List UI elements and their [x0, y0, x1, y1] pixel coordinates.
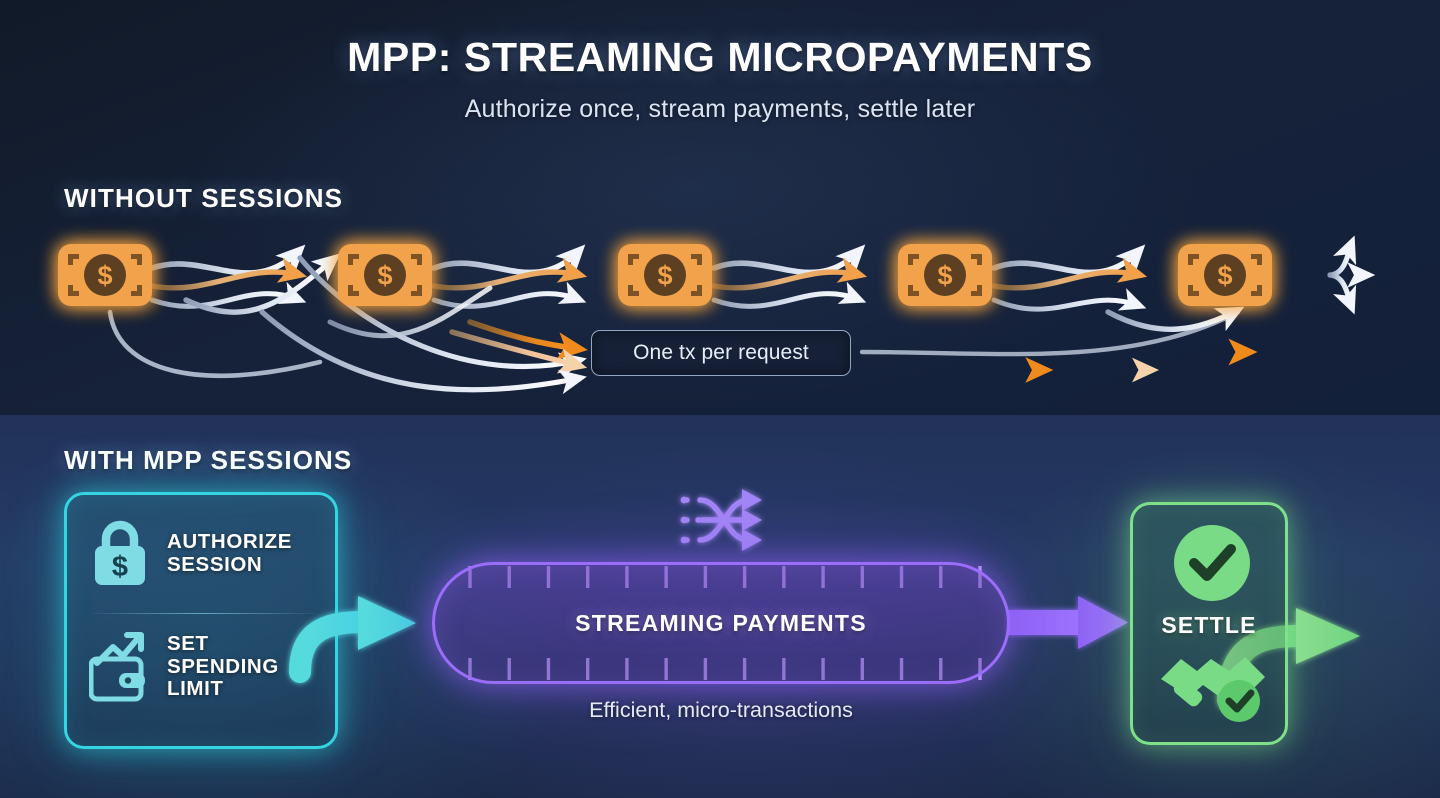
set-spending-limit-row[interactable]: SETSPENDINGLIMIT [89, 629, 279, 705]
authorize-session-label: AUTHORIZESESSION [167, 531, 292, 577]
check-circle-icon [1174, 525, 1250, 601]
section-label-without-sessions: WITHOUT SESSIONS [64, 183, 343, 214]
one-tx-per-request-badge: One tx per request [591, 330, 851, 376]
streaming-payments-caption: Efficient, micro-transactions [432, 698, 1010, 723]
page-title: MPP: STREAMING MICROPAYMENTS [0, 34, 1440, 81]
streaming-payments-label: STREAMING PAYMENTS [575, 610, 867, 637]
settle-label: SETTLE [1130, 612, 1288, 639]
card-divider [91, 613, 315, 614]
page-subtitle: Authorize once, stream payments, settle … [0, 95, 1440, 124]
handshake-check-icon [1161, 657, 1265, 722]
wallet-growth-icon [89, 629, 151, 705]
set-spending-limit-label: SETSPENDINGLIMIT [167, 633, 279, 702]
lock-dollar-icon: $ [89, 519, 151, 589]
infographic-canvas: MPP: STREAMING MICROPAYMENTS Authorize o… [0, 0, 1440, 798]
svg-text:$: $ [112, 551, 128, 583]
authorize-session-card[interactable]: $ AUTHORIZESESSION SETSPENDINGLIMIT [64, 492, 338, 749]
streaming-payments-pill: STREAMING PAYMENTS [432, 562, 1010, 684]
section-label-with-sessions: WITH MPP SESSIONS [64, 445, 352, 476]
header: MPP: STREAMING MICROPAYMENTS Authorize o… [0, 34, 1440, 124]
authorize-session-row[interactable]: $ AUTHORIZESESSION [89, 519, 292, 589]
